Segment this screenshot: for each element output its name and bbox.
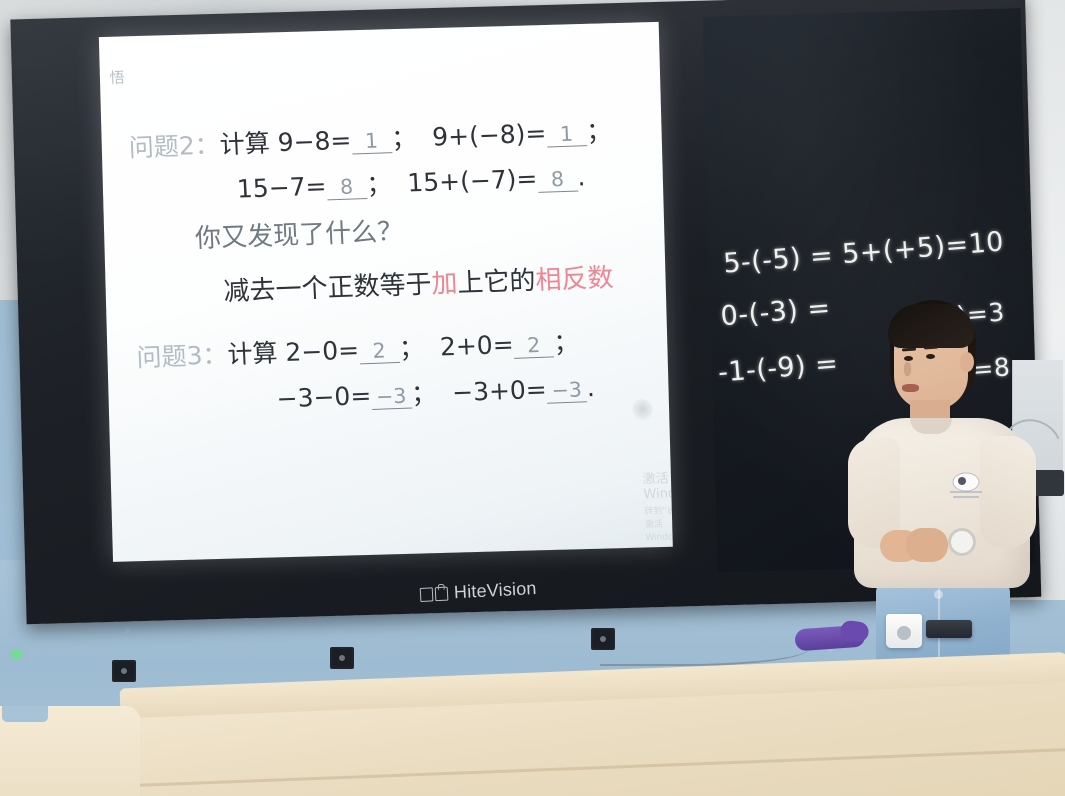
question3-sep-1: ； — [398, 333, 424, 363]
question3-sep-4: . — [586, 373, 595, 402]
question2-answer-3: 8 — [326, 174, 367, 200]
projection-screen: 悟 问题2：计算 9−8=1； 9+(−8)=1； 15−7=8； 15+(−7… — [99, 22, 673, 562]
question2-expr-4: 15+(−7)= — [407, 164, 538, 198]
slide-content: 悟 问题2：计算 9−8=1； 9+(−8)=1； 15−7=8； 15+(−7… — [99, 22, 673, 562]
podium — [0, 610, 1065, 796]
question3-sep-2: ； — [553, 328, 579, 358]
question2-line1: 问题2：计算 9−8=1； 9+(−8)=1； — [128, 111, 612, 164]
question2-answer-1: 1 — [351, 128, 392, 154]
question3-answer-3: −3 — [371, 384, 412, 410]
shirt-graphic-icon — [946, 470, 990, 504]
conclusion-highlight-2: 相反数 — [535, 263, 614, 296]
hitevision-logo-icon — [420, 586, 449, 601]
nose — [904, 362, 911, 376]
eye-left — [904, 356, 913, 361]
watermark-line-2: 转到“设置”以激活 Windows。 — [644, 502, 673, 543]
wristwatch — [948, 528, 976, 556]
windows-activation-watermark: 激活 Windows 转到“设置”以激活 Windows。 — [642, 466, 673, 543]
question2-sep-3: ； — [366, 169, 392, 199]
conclusion-part-2: 上它的 — [457, 266, 536, 299]
teacher-figure — [848, 300, 1038, 660]
conclusion-part-1: 减去一个正数等于 — [223, 270, 432, 307]
question3-expr-2: 2+0= — [439, 330, 514, 362]
question3-answer-4: −3 — [546, 377, 587, 403]
eye-right — [926, 354, 935, 359]
mouth — [902, 384, 919, 392]
pointer-dot — [632, 398, 653, 421]
watermark-line-1: 激活 Windows — [642, 466, 673, 502]
question2-expr-3: 15−7= — [236, 171, 327, 203]
question2-answer-2: 1 — [546, 121, 587, 147]
slide-corner-mark: 悟 — [109, 67, 125, 89]
podium-notch — [2, 706, 48, 722]
question2-expr-1: 9−8= — [277, 126, 352, 158]
question3-expr-3: −3−0= — [276, 381, 372, 413]
jeans-button — [934, 590, 943, 599]
slide-conclusion: 减去一个正数等于加上它的相反数 — [223, 257, 615, 308]
question3-verb: 计算 — [227, 338, 278, 369]
hair-front — [888, 304, 974, 348]
classroom-scene: 5-(-5) = 5+(+5)=10 0-(-3) = -1-(-9) = )=… — [0, 0, 1065, 796]
question2-expr-2: 9+(−8)= — [432, 119, 547, 152]
question2-verb: 计算 — [219, 128, 270, 159]
question2-sep-1: ； — [391, 123, 417, 153]
ear — [960, 352, 974, 372]
question3-label: 问题3： — [136, 340, 228, 372]
question2-line2: 15−7=8； 15+(−7)=8. — [236, 157, 586, 205]
question3-sep-3: ； — [411, 379, 437, 409]
brand-label: HiteVision — [453, 578, 537, 603]
hand-right — [906, 528, 948, 562]
question2-sep-2: ； — [586, 116, 612, 146]
question3-expr-4: −3+0= — [451, 375, 547, 407]
question3-answer-2: 2 — [513, 332, 554, 358]
question3-line1: 问题3：计算 2−0=2； 2+0=2； — [136, 323, 580, 375]
question3-line2: −3−0=−3； −3+0=−3. — [276, 368, 596, 415]
question3-expr-1: 2−0= — [285, 335, 360, 367]
question2-answer-4: 8 — [537, 166, 578, 192]
conclusion-highlight-1: 加 — [431, 269, 458, 300]
question2-sep-4: . — [577, 162, 586, 191]
question2-label: 问题2： — [128, 130, 220, 162]
slide-prompt: 你又发现了什么？ — [194, 211, 404, 255]
question3-answer-1: 2 — [359, 338, 400, 364]
